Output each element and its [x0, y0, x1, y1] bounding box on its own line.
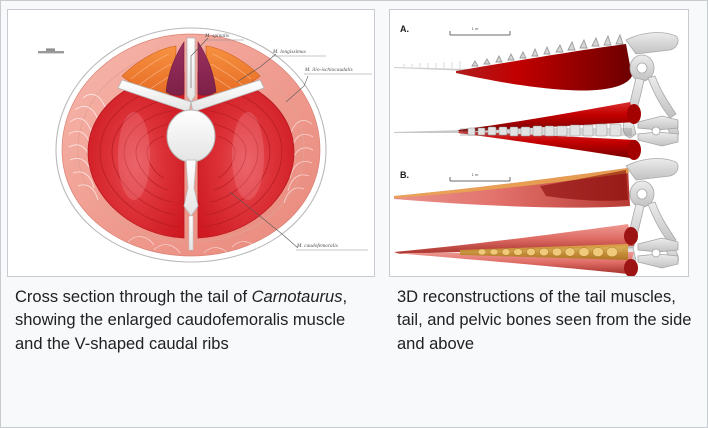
label-m-spinalis-text: M. spinalis — [204, 33, 229, 39]
reconstruction-image-frame: A. 1 m — [389, 9, 689, 277]
caption-reconstructions: 3D reconstructions of the tail muscles, … — [389, 277, 701, 360]
subpanel-a-scale-label: 1 m — [472, 26, 479, 31]
panel-3d-reconstructions: A. 1 m — [389, 9, 701, 360]
figure-container: M. spinalis M. longissimus M. ilio-ischi… — [0, 0, 708, 428]
label-m-longissimus-text: M. longissimus — [272, 49, 306, 55]
caption-cross-section: Cross section through the tail of Carnot… — [7, 277, 383, 360]
label-m-caudofemoralis-text: M. caudofemoralis — [296, 242, 338, 249]
caption-cross-section-taxon: Carnotaurus — [252, 288, 343, 306]
subpanel-b-label: B. — [400, 170, 409, 180]
cross-section-illustration: M. spinalis M. longissimus M. ilio-ischi… — [8, 10, 374, 276]
panel-cross-section: M. spinalis M. longissimus M. ilio-ischi… — [7, 9, 383, 360]
cross-section-image-frame: M. spinalis M. longissimus M. ilio-ischi… — [7, 9, 375, 277]
reconstruction-illustration: A. 1 m — [390, 10, 688, 276]
caption-cross-section-line1: Cross section through the tail of — [15, 288, 247, 306]
label-m-ilio-ischiocaudalis-text: M. ilio-ischiocaudalis — [304, 67, 353, 73]
subpanel-a-label: A. — [400, 24, 409, 34]
subpanel-b-scale-label: 1 m — [472, 172, 479, 177]
